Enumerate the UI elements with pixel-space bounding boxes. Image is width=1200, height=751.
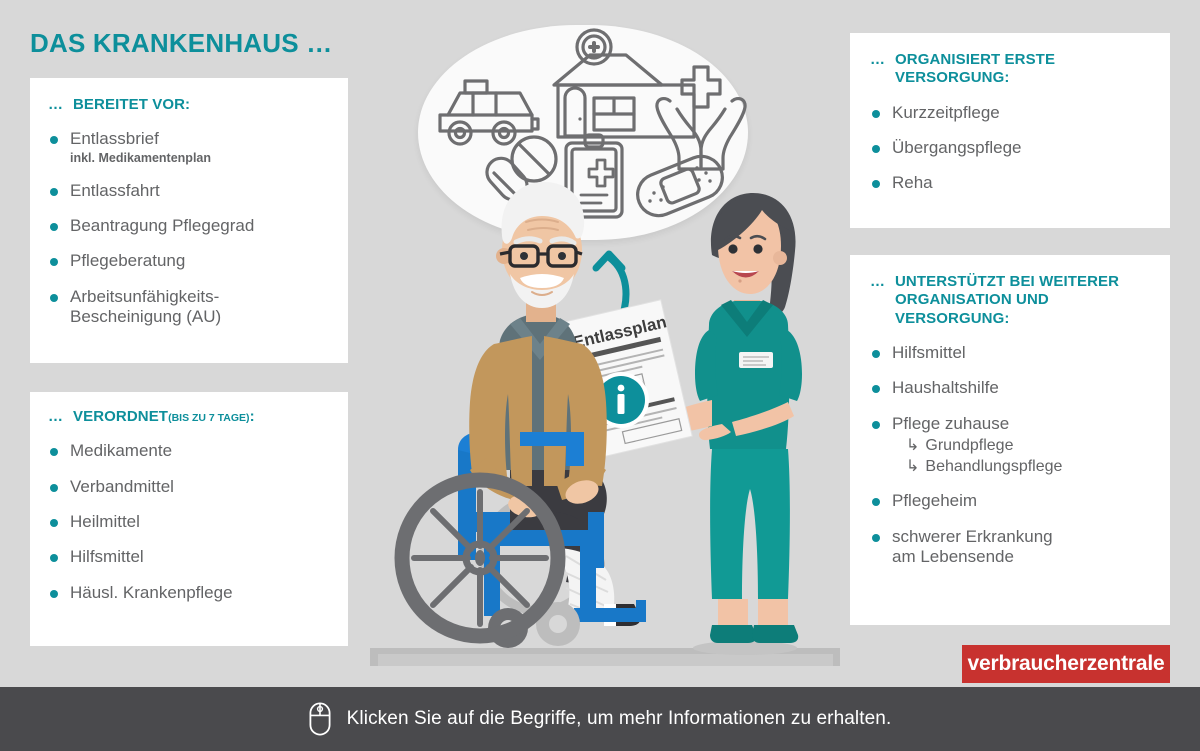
card-prescribes-heading-sub: (BIS ZU 7 TAGE) [168,412,249,424]
list-item-label: Pflegeberatung [70,251,185,270]
logo-text: verbraucherzentrale [968,652,1165,676]
card-supports-heading-text: UNTERSTÜTZT BEI WEITERER ORGANISATION UN… [895,273,1150,328]
list-item[interactable]: Medikamente [48,441,330,461]
list-item-label: Heilmittel [70,512,140,531]
list-item[interactable]: Arbeitsunfähigkeits-Bescheinigung (AU) [48,287,330,328]
footer-bar: Klicken Sie auf die Begriffe, um mehr In… [0,687,1200,751]
card-organises[interactable]: … ORGANISIERT ERSTE VERSORGUNG: Kurzzeit… [850,33,1170,228]
footer-hint-text: Klicken Sie auf die Begriffe, um mehr In… [347,708,892,730]
list-item[interactable]: Entlassfahrt [48,181,330,201]
list-item[interactable]: Beantragung Pflegegrad [48,216,330,236]
arrow-sub-icon: ↳ [906,458,919,475]
list-item-label: Kurzzeitpflege [892,103,1000,122]
list-item[interactable]: Pflegeheim [870,491,1150,511]
list-item-label: Haushaltshilfe [892,378,999,397]
leading-dots: … [870,51,886,69]
computer-mouse-icon [309,702,331,736]
list-item[interactable]: Hilfsmittel [48,547,330,567]
list-subitem-label: Behandlungspflege [925,458,1062,475]
list-item-label: Beantragung Pflegegrad [70,216,254,235]
list-item-label: schwerer Erkrankungam Lebensende [892,527,1053,566]
card-prescribes-list: Medikamente Verbandmittel Heilmittel Hil… [48,441,330,603]
list-item-note: inkl. Medikamentenplan [70,151,330,166]
card-organises-heading-text: ORGANISIERT ERSTE VERSORGUNG: [895,51,1150,88]
card-prescribes-heading-text: VERORDNET [73,408,168,425]
list-item[interactable]: Pflege zuhause ↳Grundpflege ↳Behandlungs… [870,414,1150,477]
list-item[interactable]: Hilfsmittel [870,343,1150,363]
card-supports[interactable]: … UNTERSTÜTZT BEI WEITERER ORGANISATION … [850,255,1170,625]
verbraucherzentrale-logo[interactable]: verbraucherzentrale [962,645,1170,683]
card-supports-list: Hilfsmittel Haushaltshilfe Pflege zuhaus… [870,343,1150,568]
leading-dots: … [870,273,886,291]
card-prescribes-heading-wrap: VERORDNET(BIS ZU 7 TAGE): [73,408,255,426]
list-item[interactable]: Haushaltshilfe [870,378,1150,398]
list-item-label: Pflege zuhause [892,414,1009,433]
page-title: DAS KRANKENHAUS … [30,28,332,59]
list-item[interactable]: Entlassbrief inkl. Medikamentenplan [48,129,330,165]
card-prescribes-heading: … VERORDNET(BIS ZU 7 TAGE): [48,408,330,426]
leading-dots: … [48,408,64,426]
list-item[interactable]: Übergangspflege [870,138,1150,158]
leading-dots: … [48,96,64,114]
list-item[interactable]: Verbandmittel [48,477,330,497]
card-prescribes-heading-colon: : [250,408,255,425]
list-subitem[interactable]: ↳Grundpflege [892,436,1150,455]
list-subitem[interactable]: ↳Behandlungspflege [892,457,1150,476]
list-item-label: Arbeitsunfähigkeits-Bescheinigung (AU) [70,287,221,326]
card-prepares-heading-text: BEREITET VOR: [73,96,190,114]
list-item-label: Hilfsmittel [892,343,966,362]
card-organises-heading: … ORGANISIERT ERSTE VERSORGUNG: [870,51,1150,88]
card-organises-list: Kurzzeitpflege Übergangspflege Reha [870,103,1150,194]
list-item-label: Übergangspflege [892,138,1021,157]
card-prepares-list: Entlassbrief inkl. Medikamentenplan Entl… [48,129,330,327]
list-item[interactable]: Heilmittel [48,512,330,532]
arrow-sub-icon: ↳ [906,437,919,454]
card-prescribes[interactable]: … VERORDNET(BIS ZU 7 TAGE): Medikamente … [30,392,348,646]
list-item-label: Pflegeheim [892,491,977,510]
list-item-label: Reha [892,173,933,192]
list-item-label: Entlassfahrt [70,181,160,200]
card-prepares-heading: … BEREITET VOR: [48,96,330,114]
card-supports-heading: … UNTERSTÜTZT BEI WEITERER ORGANISATION … [870,273,1150,328]
list-item[interactable]: schwerer Erkrankungam Lebensende [870,527,1150,568]
list-item-label: Medikamente [70,441,172,460]
list-subitem-label: Grundpflege [925,437,1013,454]
list-item[interactable]: Reha [870,173,1150,193]
list-item[interactable]: Pflegeberatung [48,251,330,271]
scene-figures: Entlassplan [360,0,860,690]
list-item-label: Verbandmittel [70,477,174,496]
list-item[interactable]: Kurzzeitpflege [870,103,1150,123]
card-prepares[interactable]: … BEREITET VOR: Entlassbrief inkl. Medik… [30,78,348,363]
infographic-canvas: DAS KRANKENHAUS … … BEREITET VOR: Entlas… [0,0,1200,751]
list-item-label: Hilfsmittel [70,547,144,566]
illustration: Entlassplan [360,0,860,690]
list-item[interactable]: Häusl. Krankenpflege [48,583,330,603]
list-item-label: Entlassbrief [70,129,159,148]
list-item-label: Häusl. Krankenpflege [70,583,233,602]
